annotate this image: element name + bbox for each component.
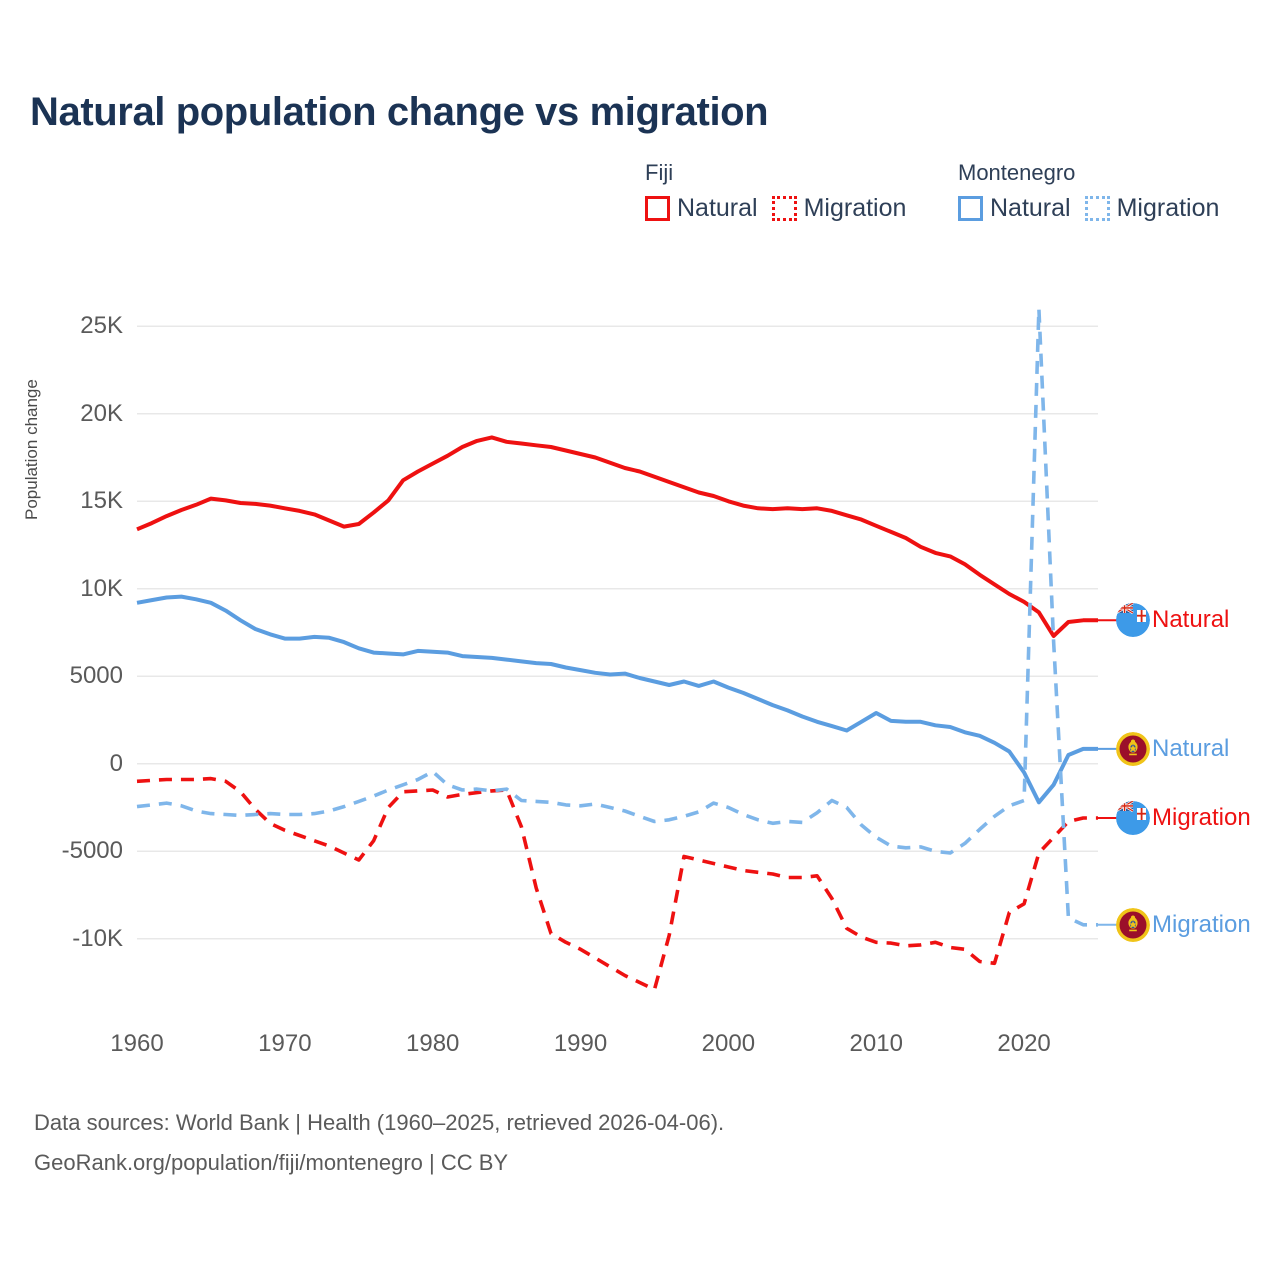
series-end-label: Natural <box>1152 735 1229 763</box>
series-end-label: Migration <box>1152 804 1251 832</box>
y-axis-tick-label: 15K <box>80 487 123 515</box>
series-end-label: Natural <box>1152 606 1229 634</box>
y-axis-tick-label: 10K <box>80 575 123 603</box>
y-axis-tick-label: 25K <box>80 312 123 340</box>
footer-data-sources: Data sources: World Bank | Health (1960–… <box>34 1110 724 1136</box>
x-axis-tick-label: 2000 <box>702 1030 755 1058</box>
chart-container: Natural population change vs migration F… <box>0 0 1280 1280</box>
flag-montenegro-icon <box>1116 732 1150 766</box>
y-axis-tick-label: -5000 <box>62 837 123 865</box>
x-axis-tick-label: 1970 <box>258 1030 311 1058</box>
x-axis-tick-label: 1990 <box>554 1030 607 1058</box>
x-axis-tick-label: 1960 <box>110 1030 163 1058</box>
y-axis-ticks: 25K20K15K10K50000-5000-10K <box>0 0 1280 1280</box>
y-axis-tick-label: 5000 <box>70 662 123 690</box>
series-end-label: Migration <box>1152 911 1251 939</box>
footer-attribution: GeoRank.org/population/fiji/montenegro |… <box>34 1150 508 1176</box>
y-axis-tick-label: -10K <box>72 925 123 953</box>
flag-montenegro-icon <box>1116 908 1150 942</box>
y-axis-tick-label: 0 <box>110 750 123 778</box>
flag-fiji-icon <box>1116 801 1150 835</box>
flag-fiji-icon <box>1116 603 1150 637</box>
y-axis-tick-label: 20K <box>80 400 123 428</box>
x-axis-tick-label: 1980 <box>406 1030 459 1058</box>
x-axis-tick-label: 2010 <box>850 1030 903 1058</box>
x-axis-tick-label: 2020 <box>997 1030 1050 1058</box>
